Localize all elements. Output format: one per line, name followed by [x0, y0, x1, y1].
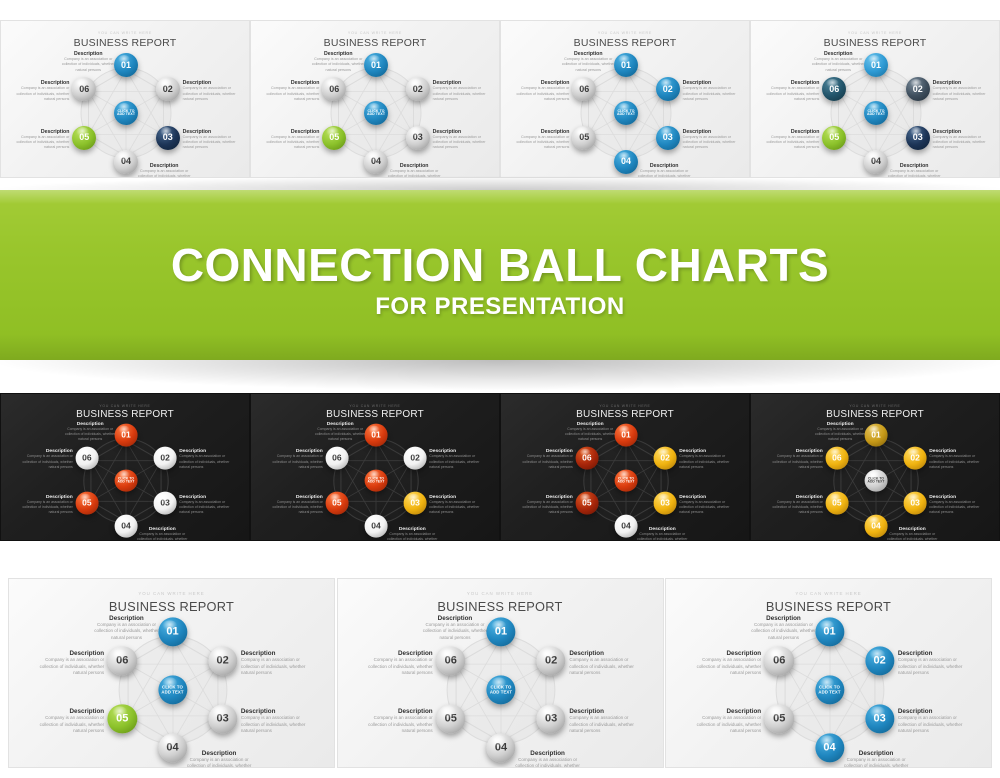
description-body: Company is an association or collection … [57, 57, 119, 73]
ball-02[interactable]: 02 [154, 447, 177, 470]
ball-number: 02 [874, 655, 886, 667]
ball-03[interactable]: 03 [208, 704, 237, 733]
ball-number: 06 [116, 655, 128, 667]
description-body: Company is an association or collection … [133, 532, 192, 541]
ball-03[interactable]: 03 [906, 126, 930, 150]
description-06: DescriptionCompany is an association or … [514, 449, 573, 469]
description-body: Company is an association or collection … [883, 532, 942, 541]
ball-02[interactable]: 02 [208, 647, 237, 676]
bottom-row: YOU CAN WRITE HEREBUSINESS REPORT01Descr… [0, 578, 1000, 768]
ball-06[interactable]: 06 [436, 647, 465, 676]
slide-title: BUSINESS REPORT [751, 409, 999, 420]
banner-subtitle: FOR PRESENTATION [0, 293, 1000, 321]
description-04: DescriptionCompany is an association or … [383, 527, 442, 541]
description-body: Company is an association or collection … [429, 454, 488, 469]
center-ball-label: CLICK TO ADD TEXT [115, 477, 138, 484]
description-05: DescriptionCompany is an association or … [514, 495, 573, 515]
description-body: Company is an association or collection … [14, 500, 73, 515]
ball-number: 05 [332, 499, 341, 508]
description-body: Company is an association or collection … [433, 86, 495, 102]
ball-number: 01 [121, 61, 131, 70]
description-01: DescriptionCompany is an association or … [811, 422, 870, 442]
ball-03[interactable]: 03 [865, 704, 894, 733]
ball-number: 03 [413, 133, 423, 142]
description-02: DescriptionCompany is an association or … [433, 80, 495, 102]
slide-light-2[interactable]: YOU CAN WRITE HEREBUSINESS REPORT01Descr… [250, 20, 500, 178]
ball-02[interactable]: 02 [404, 447, 427, 470]
description-body: Company is an association or collection … [933, 135, 995, 151]
slide-bottom-3[interactable]: YOU CAN WRITE HEREBUSINESS REPORT01Descr… [665, 578, 992, 768]
ball-number: 05 [832, 499, 841, 508]
ball-06[interactable]: 06 [326, 447, 349, 470]
description-04: DescriptionCompany is an association or … [633, 527, 692, 541]
description-body: Company is an association or collection … [929, 454, 988, 469]
ball-number: 01 [121, 431, 130, 440]
ball-number: 06 [832, 454, 841, 463]
slide-eyebrow: YOU CAN WRITE HERE [251, 31, 499, 35]
description-body: Company is an association or collection … [764, 454, 823, 469]
ball-number: 04 [823, 742, 835, 754]
description-body: Company is an association or collection … [633, 532, 692, 541]
description-body: Company is an association or collection … [757, 86, 819, 102]
dark-row: YOU CAN WRITE HEREBUSINESS REPORT01Descr… [0, 393, 1000, 541]
slide-dark-3[interactable]: YOU CAN WRITE HEREBUSINESS REPORT01Descr… [500, 393, 750, 541]
ball-05[interactable]: 05 [72, 126, 96, 150]
ball-03[interactable]: 03 [656, 126, 680, 150]
ball-number: 02 [660, 454, 669, 463]
ball-number: 03 [160, 499, 169, 508]
banner-top-highlight [0, 190, 1000, 204]
description-title: Description [241, 650, 317, 657]
description-05: DescriptionCompany is an association or … [264, 495, 323, 515]
description-02: DescriptionCompany is an association or … [183, 80, 245, 102]
ball-05[interactable]: 05 [322, 126, 346, 150]
ball-number: 05 [773, 713, 785, 725]
slide-eyebrow: YOU CAN WRITE HERE [1, 404, 249, 408]
ball-number: 03 [660, 499, 669, 508]
description-body: Company is an association or collection … [898, 657, 974, 677]
description-title: Description [29, 708, 105, 715]
description-body: Company is an association or collection … [417, 622, 493, 642]
ball-number: 02 [545, 655, 557, 667]
description-body: Company is an association or collection … [686, 657, 762, 677]
center-ball-label: CLICK TO ADD TEXT [364, 110, 388, 117]
ball-number: 02 [413, 85, 423, 94]
description-02: DescriptionCompany is an association or … [179, 449, 238, 469]
description-05: DescriptionCompany is an association or … [507, 129, 569, 151]
center-ball[interactable]: CLICK TO ADD TEXT [815, 676, 844, 705]
ball-number: 01 [166, 626, 178, 638]
ball-number: 01 [621, 431, 630, 440]
ball-number: 06 [773, 655, 785, 667]
description-01: DescriptionCompany is an association or … [57, 51, 119, 73]
description-body: Company is an association or collection … [429, 500, 488, 515]
description-body: Company is an association or collection … [569, 715, 645, 735]
ball-number: 05 [79, 133, 89, 142]
description-title: Description [181, 750, 257, 757]
ball-number: 03 [217, 713, 229, 725]
ball-number: 06 [829, 85, 839, 94]
ball-06[interactable]: 06 [76, 447, 99, 470]
description-02: DescriptionCompany is an association or … [898, 650, 974, 677]
ball-number: 06 [445, 655, 457, 667]
ball-number: 05 [582, 499, 591, 508]
description-06: DescriptionCompany is an association or … [507, 80, 569, 102]
description-06: DescriptionCompany is an association or … [264, 449, 323, 469]
banner-top-shadow [0, 176, 1000, 190]
description-body: Company is an association or collection … [241, 657, 317, 677]
description-body: Company is an association or collection … [29, 657, 105, 677]
center-ball[interactable]: CLICK TO ADD TEXT [365, 469, 388, 492]
description-06: DescriptionCompany is an association or … [357, 650, 433, 677]
description-03: DescriptionCompany is an association or … [569, 708, 645, 735]
ball-number: 02 [163, 85, 173, 94]
ball-03[interactable]: 03 [406, 126, 430, 150]
description-body: Company is an association or collection … [311, 427, 370, 442]
description-04: DescriptionCompany is an association or … [838, 750, 914, 768]
description-body: Company is an association or collection … [807, 57, 869, 73]
description-01: DescriptionCompany is an association or … [311, 422, 370, 442]
ball-number: 04 [121, 521, 130, 530]
description-title: Description [569, 708, 645, 715]
description-05: DescriptionCompany is an association or … [764, 495, 823, 515]
center-ball[interactable]: CLICK TO ADD TEXT [865, 469, 888, 492]
description-title: Description [89, 615, 165, 622]
description-06: DescriptionCompany is an association or … [686, 650, 762, 677]
slide-title: BUSINESS REPORT [501, 37, 749, 49]
center-ball-label: CLICK TO ADD TEXT [114, 110, 138, 117]
ball-number: 01 [621, 61, 631, 70]
center-ball-label: CLICK TO ADD TEXT [486, 686, 515, 695]
description-01: DescriptionCompany is an association or … [746, 615, 822, 642]
slide-eyebrow: YOU CAN WRITE HERE [1, 31, 249, 35]
description-body: Company is an association or collection … [14, 454, 73, 469]
description-body: Company is an association or collection … [257, 135, 319, 151]
banner-title: CONNECTION BALL CHARTS [0, 238, 1000, 292]
description-title: Description [838, 750, 914, 757]
description-05: DescriptionCompany is an association or … [357, 708, 433, 735]
ball-02[interactable]: 02 [904, 447, 927, 470]
description-04: DescriptionCompany is an association or … [133, 527, 192, 541]
description-title: Description [746, 615, 822, 622]
description-01: DescriptionCompany is an association or … [307, 51, 369, 73]
ball-number: 02 [217, 655, 229, 667]
description-03: DescriptionCompany is an association or … [683, 129, 745, 151]
center-ball[interactable]: CLICK TO ADD TEXT [486, 676, 515, 705]
ball-03[interactable]: 03 [537, 704, 566, 733]
slide-title: BUSINESS REPORT [751, 37, 999, 49]
center-ball[interactable]: CLICK TO ADD TEXT [614, 101, 638, 125]
ball-number: 04 [371, 521, 380, 530]
center-ball[interactable]: CLICK TO ADD TEXT [158, 676, 187, 705]
ball-number: 02 [663, 85, 673, 94]
ball-number: 03 [163, 133, 173, 142]
slide-title: BUSINESS REPORT [1, 409, 249, 420]
ball-number: 04 [121, 157, 131, 166]
ball-number: 01 [871, 431, 880, 440]
description-body: Company is an association or collection … [357, 657, 433, 677]
description-03: DescriptionCompany is an association or … [429, 495, 488, 515]
description-title: Description [357, 708, 433, 715]
description-body: Company is an association or collection … [179, 454, 238, 469]
description-04: DescriptionCompany is an association or … [510, 750, 586, 768]
description-05: DescriptionCompany is an association or … [686, 708, 762, 735]
description-body: Company is an association or collection … [181, 757, 257, 768]
ball-number: 01 [371, 431, 380, 440]
ball-03[interactable]: 03 [154, 492, 177, 515]
slide-eyebrow: YOU CAN WRITE HERE [9, 591, 334, 596]
ball-number: 04 [495, 742, 507, 754]
ball-number: 03 [545, 713, 557, 725]
ball-05[interactable]: 05 [436, 704, 465, 733]
description-03: DescriptionCompany is an association or … [179, 495, 238, 515]
ball-02[interactable]: 02 [406, 77, 430, 101]
description-06: DescriptionCompany is an association or … [757, 80, 819, 102]
center-ball-label: CLICK TO ADD TEXT [158, 686, 187, 695]
main-banner: CONNECTION BALL CHARTS FOR PRESENTATION [0, 190, 1000, 360]
description-03: DescriptionCompany is an association or … [679, 495, 738, 515]
ball-03[interactable]: 03 [404, 492, 427, 515]
slide-eyebrow: YOU CAN WRITE HERE [666, 591, 991, 596]
description-title: Description [686, 708, 762, 715]
center-ball-label: CLICK TO ADD TEXT [865, 477, 888, 484]
ball-number: 04 [371, 157, 381, 166]
description-02: DescriptionCompany is an association or … [929, 449, 988, 469]
description-body: Company is an association or collection … [811, 427, 870, 442]
ball-03[interactable]: 03 [654, 492, 677, 515]
description-body: Company is an association or collection … [507, 86, 569, 102]
description-05: DescriptionCompany is an association or … [14, 495, 73, 515]
description-title: Description [417, 615, 493, 622]
slide-eyebrow: YOU CAN WRITE HERE [251, 404, 499, 408]
slide-light-4[interactable]: YOU CAN WRITE HEREBUSINESS REPORT01Descr… [750, 20, 1000, 178]
slide-title: BUSINESS REPORT [1, 37, 249, 49]
ball-number: 03 [663, 133, 673, 142]
description-01: DescriptionCompany is an association or … [417, 615, 493, 642]
description-body: Company is an association or collection … [929, 500, 988, 515]
ball-05[interactable]: 05 [572, 126, 596, 150]
ball-06[interactable]: 06 [322, 77, 346, 101]
ball-02[interactable]: 02 [156, 77, 180, 101]
description-body: Company is an association or collection … [7, 86, 69, 102]
center-ball[interactable]: CLICK TO ADD TEXT [364, 101, 388, 125]
ball-06[interactable]: 06 [572, 77, 596, 101]
description-body: Company is an association or collection … [507, 135, 569, 151]
description-body: Company is an association or collection … [683, 86, 745, 102]
ball-number: 06 [582, 454, 591, 463]
description-body: Company is an association or collection … [241, 715, 317, 735]
ball-06[interactable]: 06 [72, 77, 96, 101]
description-body: Company is an association or collection … [183, 86, 245, 102]
description-body: Company is an association or collection … [683, 135, 745, 151]
slide-title: BUSINESS REPORT [338, 599, 663, 614]
description-body: Company is an association or collection … [89, 622, 165, 642]
center-ball-label: CLICK TO ADD TEXT [615, 477, 638, 484]
ball-number: 01 [495, 626, 507, 638]
slide-dark-2[interactable]: YOU CAN WRITE HEREBUSINESS REPORT01Descr… [250, 393, 500, 541]
ball-05[interactable]: 05 [76, 492, 99, 515]
description-body: Company is an association or collection … [933, 86, 995, 102]
ball-number: 06 [82, 454, 91, 463]
ball-02[interactable]: 02 [656, 77, 680, 101]
ball-06[interactable]: 06 [765, 647, 794, 676]
ball-number: 06 [332, 454, 341, 463]
ball-05[interactable]: 05 [822, 126, 846, 150]
description-body: Company is an association or collection … [679, 500, 738, 515]
center-ball[interactable]: CLICK TO ADD TEXT [615, 469, 638, 492]
slide-light-1[interactable]: YOU CAN WRITE HEREBUSINESS REPORT01Descr… [0, 20, 250, 178]
description-body: Company is an association or collection … [514, 454, 573, 469]
description-03: DescriptionCompany is an association or … [433, 129, 495, 151]
ball-number: 02 [913, 85, 923, 94]
ball-number: 05 [445, 713, 457, 725]
description-title: Description [357, 650, 433, 657]
description-02: DescriptionCompany is an association or … [679, 449, 738, 469]
slide-light-3[interactable]: YOU CAN WRITE HEREBUSINESS REPORT01Descr… [500, 20, 750, 178]
slide-eyebrow: YOU CAN WRITE HERE [751, 404, 999, 408]
description-title: Description [898, 650, 974, 657]
center-ball[interactable]: CLICK TO ADD TEXT [864, 101, 888, 125]
description-body: Company is an association or collection … [61, 427, 120, 442]
ball-05[interactable]: 05 [826, 492, 849, 515]
ball-02[interactable]: 02 [865, 647, 894, 676]
description-02: DescriptionCompany is an association or … [241, 650, 317, 677]
slide-title: BUSINESS REPORT [251, 409, 499, 420]
ball-06[interactable]: 06 [826, 447, 849, 470]
description-05: DescriptionCompany is an association or … [29, 708, 105, 735]
description-01: DescriptionCompany is an association or … [561, 422, 620, 442]
slide-bottom-2[interactable]: YOU CAN WRITE HEREBUSINESS REPORT01Descr… [337, 578, 664, 768]
description-body: Company is an association or collection … [357, 715, 433, 735]
description-body: Company is an association or collection … [510, 757, 586, 768]
ball-number: 02 [910, 454, 919, 463]
description-body: Company is an association or collection … [264, 454, 323, 469]
description-01: DescriptionCompany is an association or … [557, 51, 619, 73]
slide-title: BUSINESS REPORT [501, 409, 749, 420]
slide-title: BUSINESS REPORT [9, 599, 334, 614]
slide-dark-4[interactable]: YOU CAN WRITE HEREBUSINESS REPORT01Descr… [750, 393, 1000, 541]
slide-dark-1[interactable]: YOU CAN WRITE HEREBUSINESS REPORT01Descr… [0, 393, 250, 541]
slide-eyebrow: YOU CAN WRITE HERE [501, 404, 749, 408]
ball-number: 04 [166, 742, 178, 754]
ball-number: 04 [621, 521, 630, 530]
description-03: DescriptionCompany is an association or … [929, 495, 988, 515]
description-body: Company is an association or collection … [757, 135, 819, 151]
ball-03[interactable]: 03 [156, 126, 180, 150]
description-title: Description [898, 708, 974, 715]
ball-number: 04 [871, 157, 881, 166]
description-body: Company is an association or collection … [264, 500, 323, 515]
ball-number: 02 [410, 454, 419, 463]
description-03: DescriptionCompany is an association or … [183, 129, 245, 151]
description-04: DescriptionCompany is an association or … [883, 527, 942, 541]
description-body: Company is an association or collection … [433, 135, 495, 151]
description-title: Description [29, 650, 105, 657]
description-03: DescriptionCompany is an association or … [933, 129, 995, 151]
ball-03[interactable]: 03 [904, 492, 927, 515]
description-05: DescriptionCompany is an association or … [257, 129, 319, 151]
ball-05[interactable]: 05 [326, 492, 349, 515]
center-ball[interactable]: CLICK TO ADD TEXT [115, 469, 138, 492]
ball-number: 06 [329, 85, 339, 94]
center-ball-label: CLICK TO ADD TEXT [815, 686, 844, 695]
ball-05[interactable]: 05 [765, 704, 794, 733]
ball-number: 01 [871, 61, 881, 70]
ball-06[interactable]: 06 [822, 77, 846, 101]
ball-05[interactable]: 05 [108, 704, 137, 733]
description-04: DescriptionCompany is an association or … [181, 750, 257, 768]
description-01: DescriptionCompany is an association or … [89, 615, 165, 642]
description-body: Company is an association or collection … [307, 57, 369, 73]
ball-number: 05 [829, 133, 839, 142]
ball-02[interactable]: 02 [906, 77, 930, 101]
ball-number: 01 [371, 61, 381, 70]
ball-02[interactable]: 02 [654, 447, 677, 470]
slide-eyebrow: YOU CAN WRITE HERE [751, 31, 999, 35]
description-01: DescriptionCompany is an association or … [61, 422, 120, 442]
top-row: YOU CAN WRITE HEREBUSINESS REPORT01Descr… [0, 20, 1000, 178]
slide-title: BUSINESS REPORT [251, 37, 499, 49]
ball-number: 05 [116, 713, 128, 725]
description-title: Description [241, 708, 317, 715]
slide-bottom-1[interactable]: YOU CAN WRITE HEREBUSINESS REPORT01Descr… [8, 578, 335, 768]
description-body: Company is an association or collection … [686, 715, 762, 735]
description-body: Company is an association or collection … [179, 500, 238, 515]
description-02: DescriptionCompany is an association or … [569, 650, 645, 677]
description-body: Company is an association or collection … [898, 715, 974, 735]
description-body: Company is an association or collection … [838, 757, 914, 768]
description-body: Company is an association or collection … [257, 86, 319, 102]
description-body: Company is an association or collection … [561, 427, 620, 442]
ball-06[interactable]: 06 [108, 647, 137, 676]
ball-02[interactable]: 02 [537, 647, 566, 676]
description-03: DescriptionCompany is an association or … [241, 708, 317, 735]
slide-eyebrow: YOU CAN WRITE HERE [338, 591, 663, 596]
ball-05[interactable]: 05 [576, 492, 599, 515]
ball-number: 06 [579, 85, 589, 94]
description-02: DescriptionCompany is an association or … [683, 80, 745, 102]
ball-number: 04 [871, 521, 880, 530]
ball-number: 02 [160, 454, 169, 463]
center-ball-label: CLICK TO ADD TEXT [365, 477, 388, 484]
ball-number: 03 [913, 133, 923, 142]
ball-number: 05 [579, 133, 589, 142]
ball-number: 03 [410, 499, 419, 508]
description-body: Company is an association or collection … [764, 500, 823, 515]
ball-number: 05 [82, 499, 91, 508]
center-ball[interactable]: CLICK TO ADD TEXT [114, 101, 138, 125]
description-06: DescriptionCompany is an association or … [14, 449, 73, 469]
description-body: Company is an association or collection … [569, 657, 645, 677]
banner-bottom-shade [0, 334, 1000, 360]
description-06: DescriptionCompany is an association or … [7, 80, 69, 102]
description-body: Company is an association or collection … [557, 57, 619, 73]
description-body: Company is an association or collection … [7, 135, 69, 151]
banner-bottom-shadow [0, 360, 1000, 390]
description-title: Description [510, 750, 586, 757]
ball-06[interactable]: 06 [576, 447, 599, 470]
center-ball-label: CLICK TO ADD TEXT [864, 110, 888, 117]
description-body: Company is an association or collection … [183, 135, 245, 151]
ball-number: 05 [329, 133, 339, 142]
slide-eyebrow: YOU CAN WRITE HERE [501, 31, 749, 35]
description-02: DescriptionCompany is an association or … [429, 449, 488, 469]
ball-number: 06 [79, 85, 89, 94]
ball-number: 04 [621, 157, 631, 166]
description-06: DescriptionCompany is an association or … [29, 650, 105, 677]
description-05: DescriptionCompany is an association or … [757, 129, 819, 151]
description-title: Description [686, 650, 762, 657]
